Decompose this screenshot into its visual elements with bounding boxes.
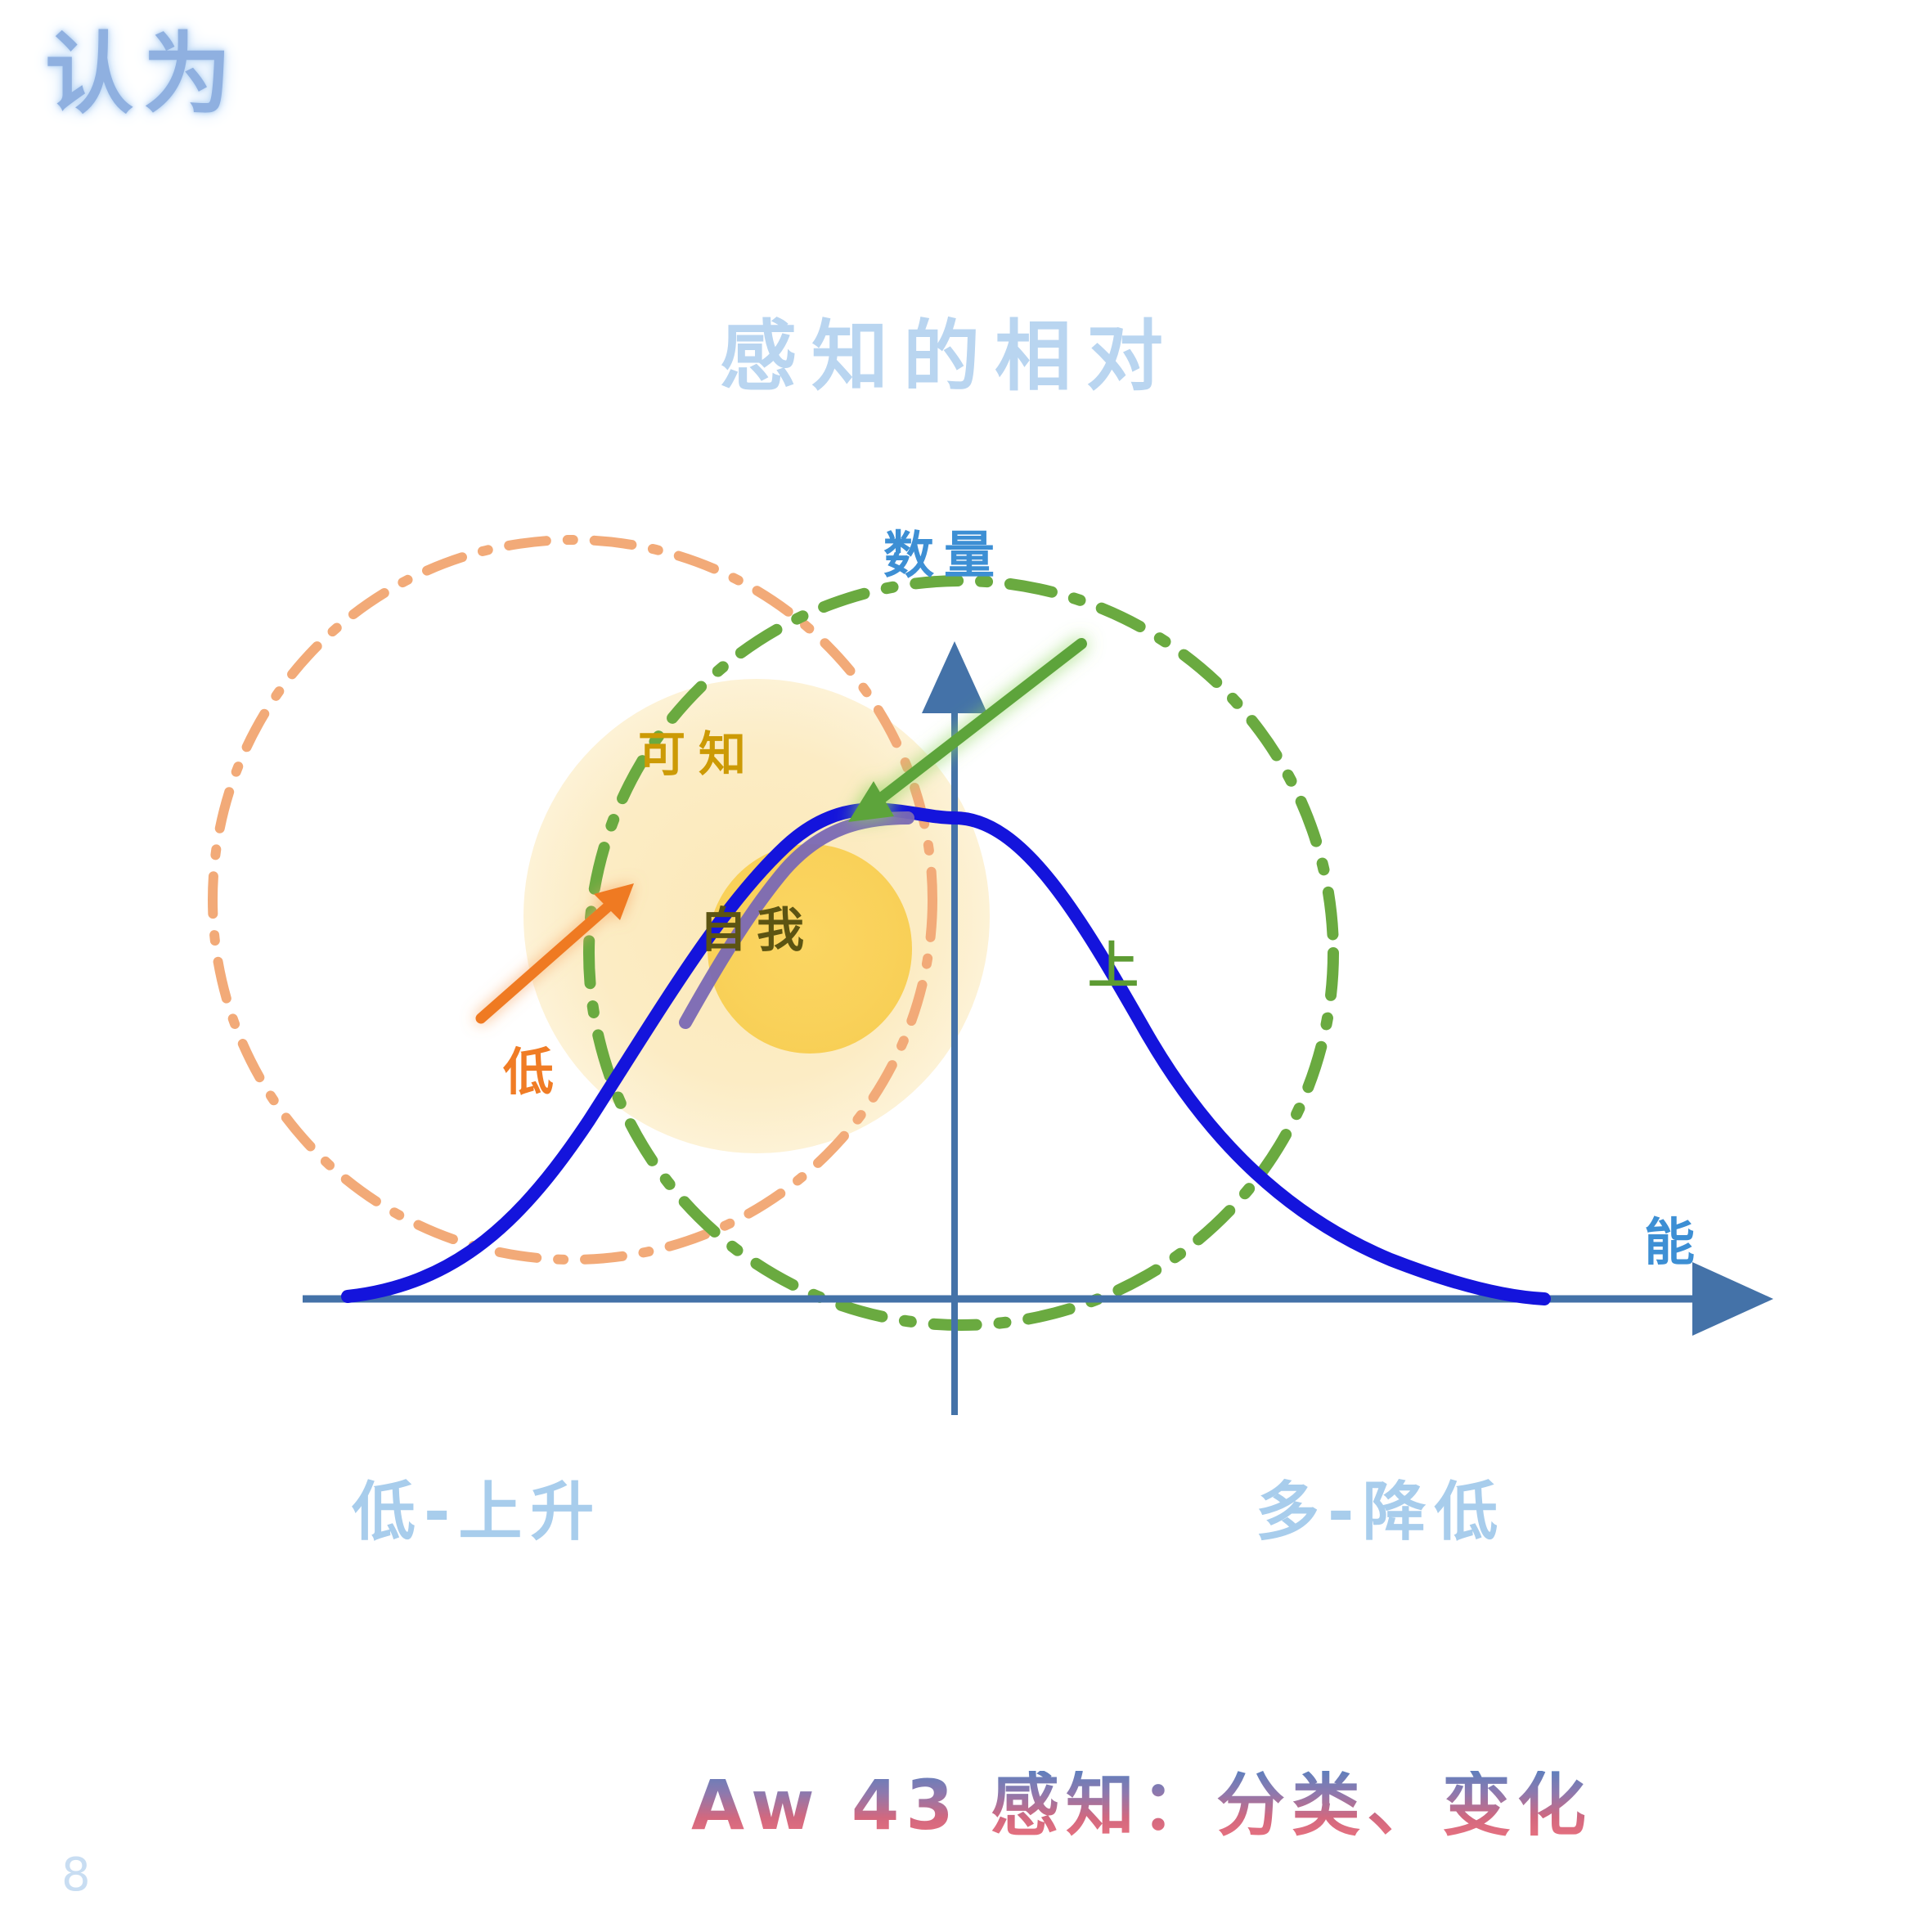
knowable-label: 可知 — [638, 730, 759, 778]
self-label: 自我 — [699, 906, 814, 954]
low-label: 低 — [503, 1047, 554, 1098]
footer-title: Aw 43 感知：分类、变化 — [691, 1771, 1593, 1840]
caption-right: 多-降低 — [1256, 1480, 1506, 1544]
x-axis-label: 能 — [1644, 1217, 1695, 1268]
slide-canvas: 认为 感知的相对 数量 能 可知 自我 低 上 低-上升 多-降低 Aw 43 … — [0, 0, 1932, 1932]
caption-left: 低-上升 — [352, 1480, 602, 1544]
page-title: 认为 — [45, 31, 241, 119]
perception-relativity-diagram — [0, 0, 1932, 1932]
page-number: 8 — [61, 1853, 91, 1898]
y-axis-label: 数量 — [883, 530, 1004, 581]
chart-title: 感知的相对 — [720, 319, 1178, 396]
up-label: 上 — [1088, 941, 1139, 991]
